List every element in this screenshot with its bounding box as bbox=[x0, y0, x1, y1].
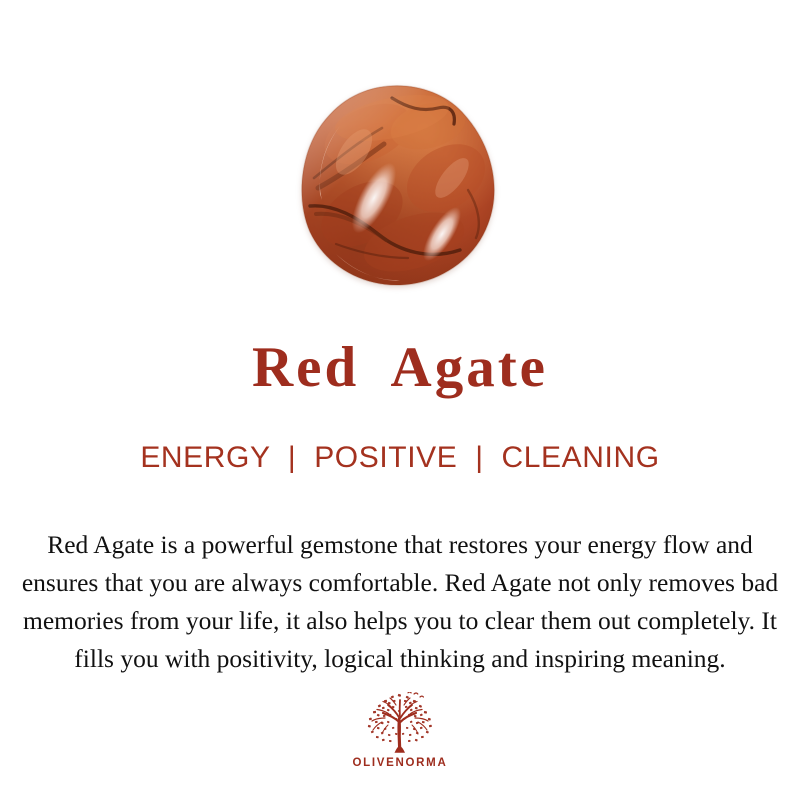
gemstone-image bbox=[296, 82, 504, 288]
brand-name: OLIVENORMA bbox=[353, 757, 448, 769]
page-title: Red Agate bbox=[0, 336, 800, 400]
brand-logo: OLIVENORMA bbox=[0, 692, 800, 792]
gemstone-image-area bbox=[0, 0, 800, 320]
product-info-card: Red Agate ENERGY | POSITIVE | CLEANING R… bbox=[0, 0, 800, 800]
tree-of-life-icon bbox=[358, 692, 442, 754]
product-description: Red Agate is a powerful gemstone that re… bbox=[18, 526, 782, 678]
keywords-line: ENERGY | POSITIVE | CLEANING bbox=[0, 440, 800, 476]
red-agate-stone-illustration bbox=[296, 82, 504, 288]
